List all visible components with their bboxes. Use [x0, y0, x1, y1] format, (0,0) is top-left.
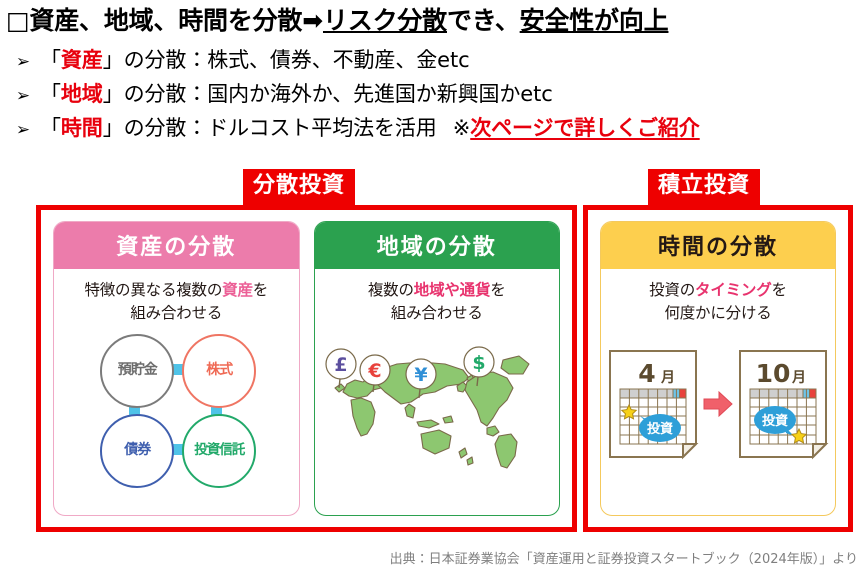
circle-deposit: 預貯金: [100, 334, 174, 408]
note-mark: ※: [437, 111, 471, 145]
page-title: □資産、地域、時間を分散➡リスク分散でき、安全性が向上: [6, 4, 868, 38]
world-map-illustration: £ € ¥: [317, 330, 557, 482]
bubble-label: 投資: [647, 421, 673, 437]
progress-arrow-icon: [703, 390, 733, 418]
desc-post: を: [253, 281, 268, 299]
arrow-bullet-icon: ➢: [6, 49, 40, 77]
source-citation: 出典：日本証券業協会「資産運用と証券投資スタートブック（2024年版）」より: [0, 548, 858, 567]
bullet-keyword-time: 時間: [61, 111, 103, 145]
card-header-asset: 資産の分散: [54, 222, 299, 269]
circle-bond: 債券: [100, 414, 174, 488]
circle-investment-trust-label: 投資信託: [194, 443, 244, 457]
group-label-diversified: 分散投資: [243, 169, 355, 205]
card-desc-asset: 特徴の異なる複数の資産を 組み合わせる: [84, 279, 268, 326]
card-desc-time: 投資のタイミングを 何度かに分ける: [649, 279, 787, 326]
close-quote: 」: [103, 43, 124, 77]
desc-pre: 特徴の異なる複数の: [84, 281, 222, 299]
currency-euro-icon: €: [367, 360, 381, 382]
next-page-note: 次ページで詳しくご紹介: [470, 111, 699, 145]
list-item: ➢ 「地域」の分散：国内か海外か、先進国か新興国かetc: [6, 77, 868, 111]
title-part2: でき、: [447, 6, 520, 35]
currency-pound-icon: £: [334, 354, 347, 376]
card-desc-region: 複数の地域や通貨を 組み合わせる: [368, 279, 506, 326]
calendar-month-unit: 月: [791, 370, 806, 386]
calendar-illustration: 4 月: [604, 344, 832, 464]
title-part1: 資産、地域、時間を分散: [29, 6, 302, 35]
bullet-list: ➢ 「資産」の分散：株式、債券、不動産、金etc ➢ 「地域」の分散：国内か海外…: [6, 43, 868, 145]
bullet-keyword-region: 地域: [61, 77, 103, 111]
title-underlined-safety: 安全性が向上: [520, 6, 669, 35]
desc-pre: 複数の: [368, 281, 414, 299]
close-quote: 」: [103, 77, 124, 111]
bullet-body-text: の分散：国内か海外か、先進国か新興国かetc: [124, 77, 553, 111]
asset-circles-diagram: 預貯金 株式 債券 投資信託: [90, 334, 262, 486]
arrow-bullet-icon: ➢: [6, 117, 40, 145]
calendar-october: 10 月: [737, 348, 829, 460]
bullet-body-text: の分散：ドルコスト平均法を活用: [124, 111, 437, 145]
right-arrow-icon: ➡: [302, 6, 323, 35]
card-header-time: 時間の分散: [601, 222, 835, 269]
close-quote: 」: [103, 111, 124, 145]
checkbox-glyph: □: [6, 6, 29, 35]
desc-line2: 組み合わせる: [391, 304, 483, 322]
card-header-region: 地域の分散: [315, 222, 560, 269]
arrow-bullet-icon: ➢: [6, 83, 40, 111]
circle-stock: 株式: [182, 334, 256, 408]
open-quote: 「: [40, 43, 61, 77]
calendar-month-number: 4: [638, 359, 655, 388]
calendar-month-number: 10: [756, 359, 791, 388]
calendar-month-unit: 月: [660, 370, 675, 386]
card-time-diversification: 時間の分散 投資のタイミングを 何度かに分ける 4 月: [600, 221, 836, 516]
card-region-diversification: 地域の分散 複数の地域や通貨を 組み合わせる: [314, 221, 561, 516]
bullet-keyword-asset: 資産: [61, 43, 103, 77]
circle-investment-trust: 投資信託: [182, 414, 256, 488]
bubble-label: 投資: [762, 413, 788, 429]
diversified-investment-panel: 資産の分散 特徴の異なる複数の資産を 組み合わせる 預貯金 株式 債券 投資信託: [36, 205, 577, 532]
desc-highlight-time: タイミング: [695, 281, 772, 299]
list-item: ➢ 「資産」の分散：株式、債券、不動産、金etc: [6, 43, 868, 77]
bullet-body-text: の分散：株式、債券、不動産、金etc: [124, 43, 470, 77]
open-quote: 「: [40, 77, 61, 111]
currency-yen-icon: ¥: [414, 364, 427, 386]
calendar-april: 4 月: [607, 348, 699, 460]
desc-highlight-region: 地域や通貨: [414, 281, 491, 299]
heading-block: □資産、地域、時間を分散➡リスク分散でき、安全性が向上 ➢ 「資産」の分散：株式…: [0, 0, 868, 145]
desc-post: を: [772, 281, 787, 299]
desc-line2: 組み合わせる: [130, 304, 222, 322]
accumulation-investment-panel: 時間の分散 投資のタイミングを 何度かに分ける 4 月: [583, 205, 853, 532]
card-asset-diversification: 資産の分散 特徴の異なる複数の資産を 組み合わせる 預貯金 株式 債券 投資信託: [53, 221, 300, 516]
title-underlined-risk: リスク分散: [323, 6, 447, 35]
currency-dollar-icon: $: [472, 352, 485, 374]
desc-highlight-asset: 資産: [222, 281, 253, 299]
group-label-accumulation: 積立投資: [648, 169, 760, 205]
desc-post: を: [490, 281, 505, 299]
desc-pre: 投資の: [649, 281, 695, 299]
list-item: ➢ 「時間」の分散：ドルコスト平均法を活用※次ページで詳しくご紹介: [6, 111, 868, 145]
desc-line2: 何度かに分ける: [664, 304, 771, 322]
open-quote: 「: [40, 111, 61, 145]
